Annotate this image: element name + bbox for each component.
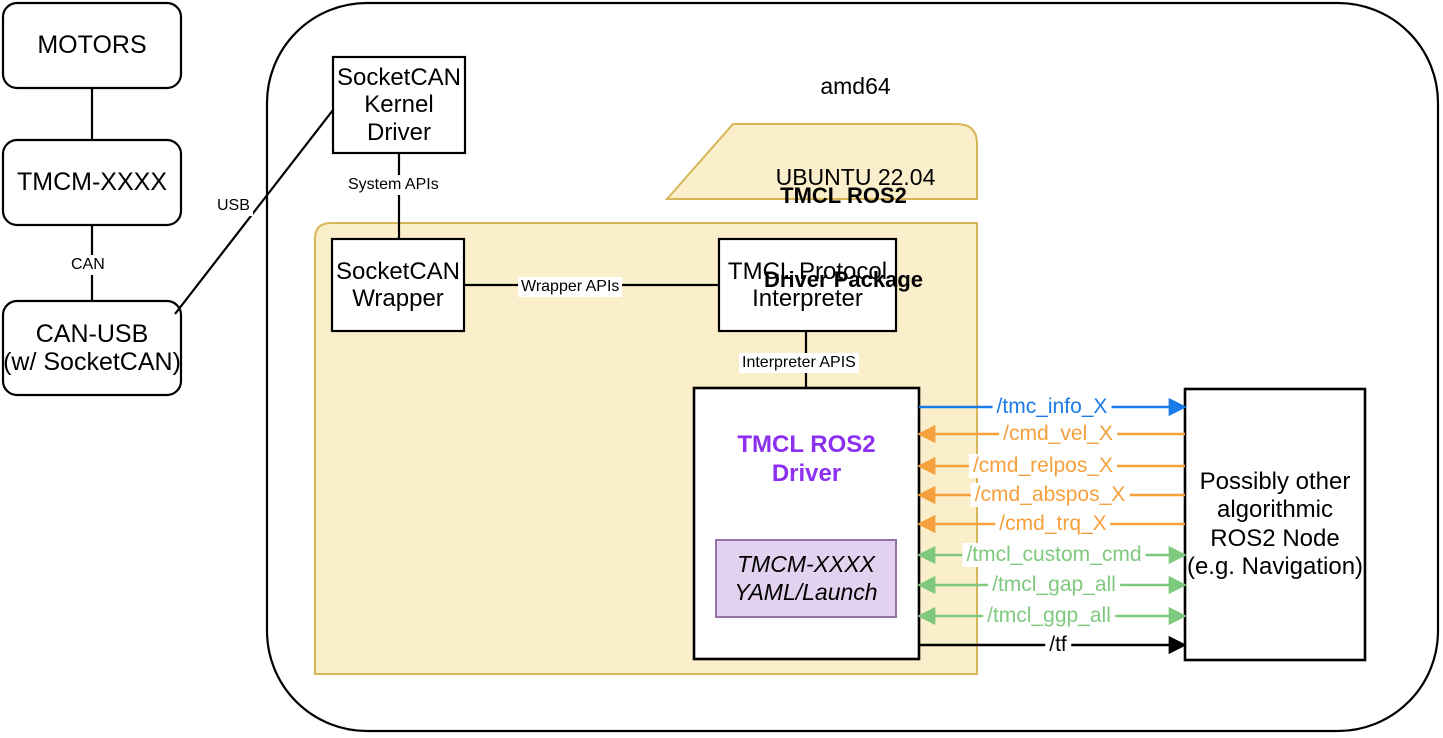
topic-label-tf: /tf <box>1045 633 1071 657</box>
topic-label-tmcl-custom-cmd: /tmcl_custom_cmd <box>962 543 1145 567</box>
architecture-diagram: amd64 UBUNTU 22.04 TMCL ROS2 Driver Pack… <box>0 0 1443 738</box>
can-usb-box-label: CAN-USB (w/ SocketCAN) <box>3 301 181 395</box>
usb-diagonal-line <box>175 110 333 314</box>
socketcan-wrapper-box-label: SocketCAN Wrapper <box>332 239 464 331</box>
topic-label-tmcl-ggp-all: /tmcl_ggp_all <box>983 604 1115 628</box>
topic-label-cmd-relpos: /cmd_relpos_X <box>969 454 1117 478</box>
kernel-driver-box-label: SocketCAN Kernel Driver <box>333 57 465 153</box>
other-ros2-node-label: Possibly other algorithmic ROS2 Node (e.… <box>1181 468 1369 581</box>
topic-label-cmd-vel: /cmd_vel_X <box>999 422 1117 446</box>
interpreter-apis-label: Interpreter APIS <box>739 353 859 373</box>
yaml-launch-label: TMCM-XXXX YAML/Launch <box>716 550 896 606</box>
motor-controller-box-label: TMCM-XXXX <box>3 140 181 225</box>
protocol-interpreter-box-label: TMCL Protocol Interpreter <box>719 239 896 331</box>
motors-box-label: MOTORS <box>3 3 181 88</box>
host-architecture: amd64 <box>753 71 958 101</box>
topic-label-cmd-trq: /cmd_trq_X <box>995 512 1110 536</box>
ros2-driver-box-outline <box>694 388 919 659</box>
wrapper-apis-label: Wrapper APIs <box>518 277 622 297</box>
can-link-label: CAN <box>68 255 108 275</box>
package-banner-line1: TMCL ROS2 <box>727 182 960 210</box>
topic-label-tmc-info: /tmc_info_X <box>993 395 1112 419</box>
system-apis-label: System APIs <box>345 175 442 195</box>
usb-link-label: USB <box>214 196 253 216</box>
ros2-driver-title: TMCL ROS2 Driver <box>694 431 919 489</box>
topic-label-cmd-abspos: /cmd_abspos_X <box>971 483 1130 507</box>
diagram-vector-layer <box>0 0 1443 738</box>
topic-label-tmcl-gap-all: /tmcl_gap_all <box>988 573 1120 597</box>
